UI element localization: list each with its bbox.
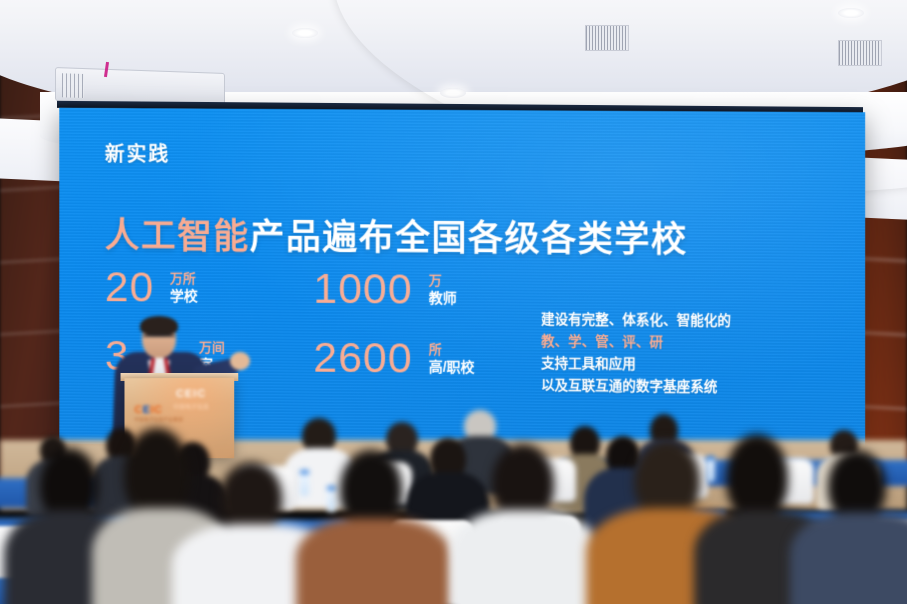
- stat-subject: 教师: [429, 290, 457, 306]
- stat-unit: 所: [429, 342, 442, 357]
- stat-unit: 万所: [170, 271, 196, 286]
- side-note-line: 以及互联互通的数字基座系统: [541, 374, 843, 399]
- ceiling-vent: [585, 25, 629, 51]
- speaker-hand: [230, 352, 250, 370]
- headline-accent-text: 人工智能: [105, 217, 250, 257]
- audience: [0, 400, 907, 604]
- water-bottle: [300, 470, 309, 496]
- downlight: [440, 88, 466, 98]
- glasses-icon: [143, 335, 175, 342]
- side-note-line-accent: 教、学、管、评、研: [541, 331, 843, 356]
- stat-number: 1000: [313, 269, 412, 311]
- stat-row: 20 万所 学校 1000 万 教师: [105, 267, 533, 311]
- stat-labels: 万所 学校: [170, 270, 198, 306]
- stat-labels: 所 高/职校: [429, 341, 475, 377]
- stat-subject: 学校: [170, 288, 198, 304]
- stat-item: 2600 所 高/职校: [313, 338, 474, 380]
- podium-brand-name: CEIC: [158, 388, 224, 400]
- stat-item: 1000 万 教师: [313, 269, 456, 311]
- water-bottle: [706, 456, 715, 482]
- stat-labels: 万 教师: [429, 272, 457, 308]
- speaker-hair: [140, 316, 178, 336]
- stat-unit: 万: [429, 273, 442, 288]
- photo-scene: 新实践 人工智能产品遍布全国各级各类学校 20 万所 学校 1000 万 教师: [0, 0, 907, 604]
- downlight: [292, 28, 318, 38]
- slide-side-note: 建设有完整、体系化、智能化的 教、学、管、评、研 支持工具和应用 以及互联互通的…: [541, 309, 843, 399]
- downlight: [838, 8, 864, 18]
- side-note-line: 支持工具和应用: [541, 352, 843, 377]
- headline-rest-text: 产品遍布全国各级各类学校: [250, 218, 688, 260]
- side-note-line: 建设有完整、体系化、智能化的: [541, 309, 843, 333]
- slide-headline: 人工智能产品遍布全国各级各类学校: [105, 208, 688, 263]
- slide-kicker: 新实践: [105, 138, 170, 167]
- water-bottle: [327, 486, 336, 512]
- stat-number: 2600: [313, 338, 412, 380]
- ceiling-vent: [838, 40, 882, 66]
- stat-item: 20 万所 学校: [105, 267, 314, 309]
- stat-number: 20: [105, 267, 154, 308]
- stat-subject: 高/职校: [429, 359, 475, 375]
